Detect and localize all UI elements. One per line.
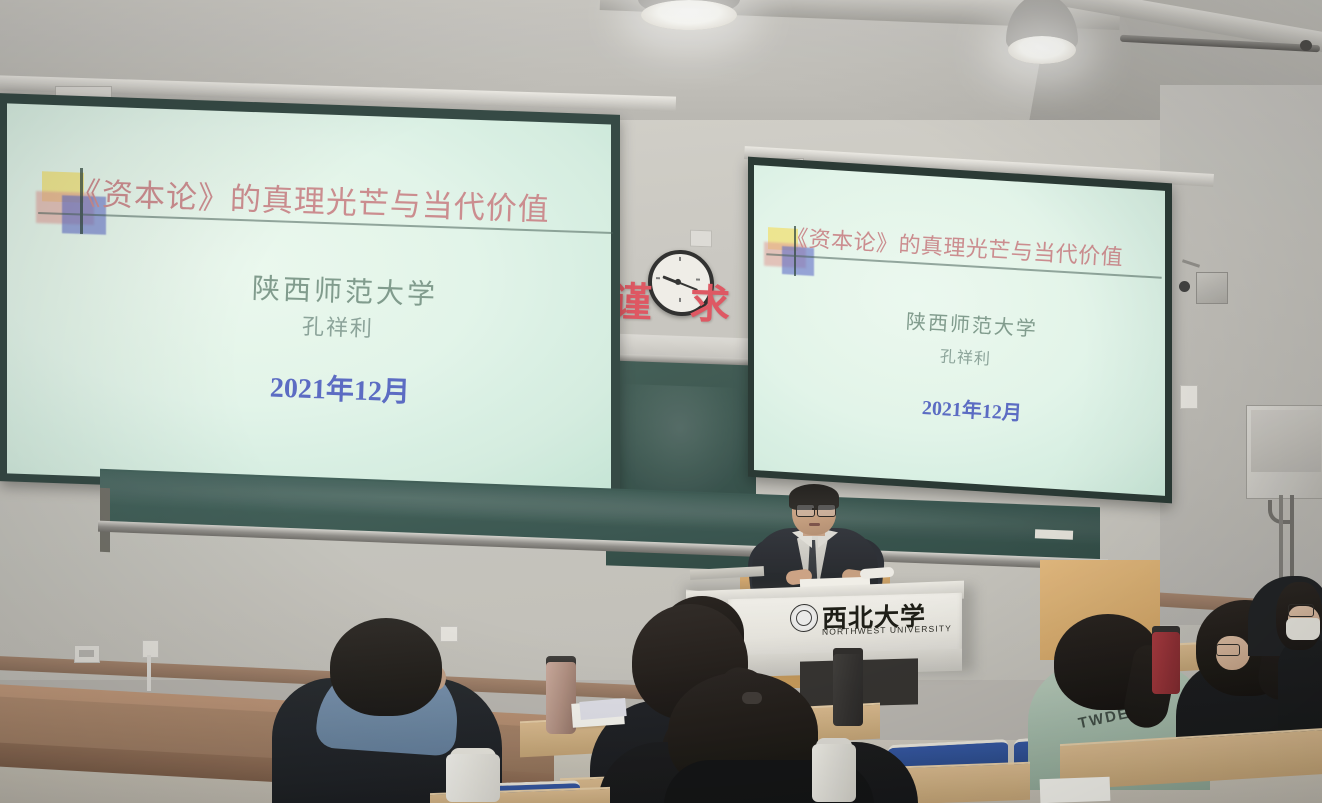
- presenter-glasses-bridge: [812, 508, 818, 510]
- wall-outlet-a[interactable]: [74, 645, 100, 663]
- wall-motto-right: 求: [689, 271, 731, 330]
- water-bottle-grey[interactable]: [812, 744, 856, 802]
- wall-outlet-right[interactable]: [1180, 385, 1198, 409]
- electrical-box: [1196, 272, 1228, 304]
- thermos-bottle-black[interactable]: [833, 654, 863, 726]
- slide-date-right: 2021年12月: [921, 391, 1023, 426]
- presenter-mouth: [809, 523, 820, 526]
- wall-outlet-c[interactable]: [440, 626, 458, 642]
- face-mask-icon: [1286, 618, 1320, 640]
- audience-member-head: [330, 618, 442, 716]
- notebook-page: [1172, 650, 1235, 673]
- wall-conduit-b: [147, 655, 151, 691]
- audience-member-torso: [1278, 636, 1322, 736]
- lecture-hall-photo: 谨 求 《资本论》的真理光芒与当代价值 陕西师范大学 孔祥利 2021年12月 …: [0, 0, 1322, 803]
- pendant-lamp-light: [641, 0, 737, 30]
- chalkboard-eraser[interactable]: [1035, 529, 1073, 539]
- notebook-page: [1040, 777, 1111, 803]
- slide-organization-left: 陕西师范大学: [251, 267, 438, 313]
- wall-speaker: [1246, 405, 1322, 499]
- pendant-lamp-light-2: [1008, 36, 1076, 64]
- clock-center-pin: [675, 279, 681, 285]
- slide-date-left: 2021年12月: [269, 366, 410, 411]
- audience-glasses-icon: [1288, 604, 1314, 617]
- presenter-glasses-right-lens: [817, 504, 836, 517]
- presenter-glasses-left-lens: [796, 504, 815, 517]
- wall-switch[interactable]: [690, 230, 712, 248]
- water-bottle-white[interactable]: [446, 754, 500, 802]
- slide-presenter-right: 孔祥利: [939, 343, 991, 370]
- slide-presenter-left: 孔祥利: [301, 309, 374, 343]
- ceiling-pipe-cap: [1300, 40, 1312, 51]
- conduit-knob: [1179, 281, 1190, 292]
- audience-hair-clip: [742, 692, 762, 704]
- right-wall: [1160, 85, 1322, 625]
- thermos-bottle-pink[interactable]: [546, 662, 576, 734]
